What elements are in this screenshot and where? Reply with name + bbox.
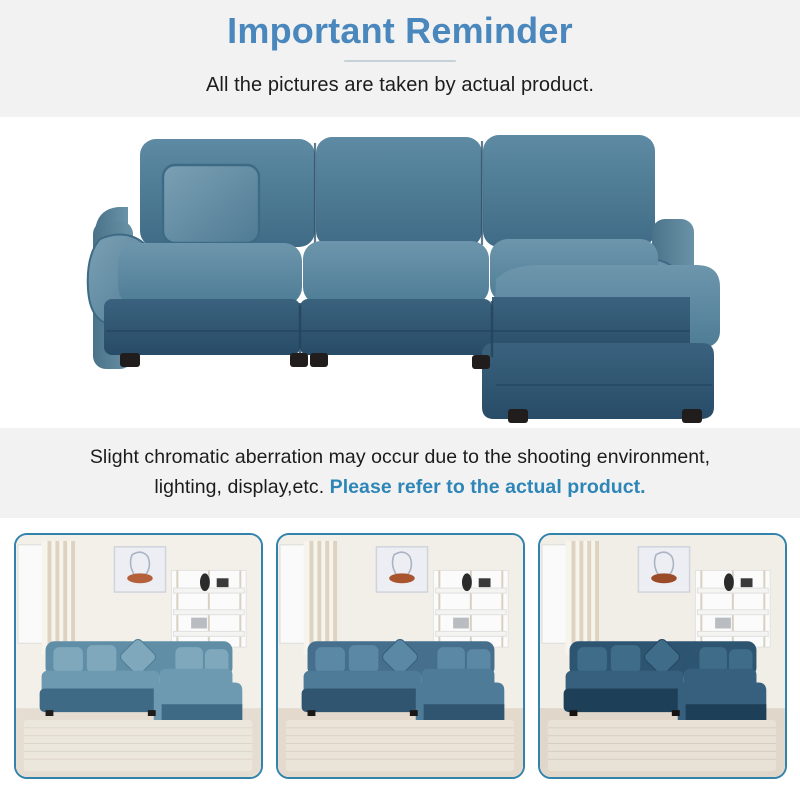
product-reminder-page: Important Reminder All the pictures are … [0,0,800,800]
thumbnail-1[interactable] [14,533,263,779]
sofa-leg [120,353,140,367]
disclaimer-band: Slight chromatic aberration may occur du… [0,428,800,518]
hero-product-image [0,117,800,428]
page-title: Important Reminder [227,11,573,51]
sofa-illustration [0,117,800,428]
disclaimer-highlight-text: Please refer to the actual product. [330,476,646,498]
disclaimer-line-1: Slight chromatic aberration may occur du… [90,443,710,473]
disclaimer-line-2: lighting, display,etc. Please refer to t… [154,473,645,503]
thumbnail-strip [0,518,800,800]
room-scene-medium [278,535,523,777]
room-scene-light [16,535,261,777]
disclaimer-plain-text: lighting, display,etc. [154,476,324,498]
thumbnail-3[interactable] [538,533,787,779]
title-divider [344,60,456,62]
room-scene-dark [540,535,785,777]
header-band: Important Reminder All the pictures are … [0,0,800,117]
thumbnail-2[interactable] [276,533,525,779]
header-subtitle: All the pictures are taken by actual pro… [206,74,594,97]
